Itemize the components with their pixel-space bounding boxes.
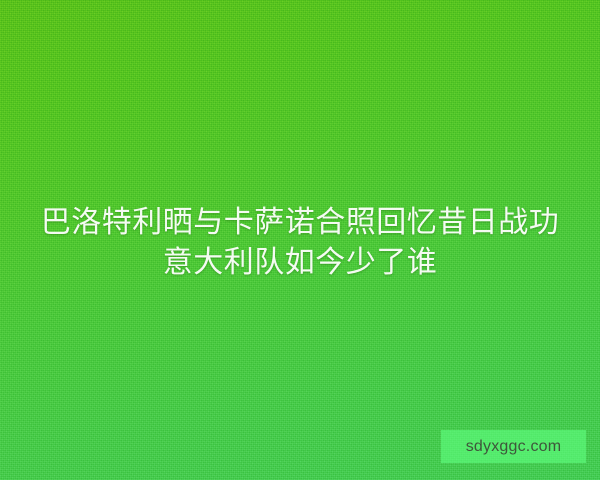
article-banner: 巴洛特利晒与卡萨诺合照回忆昔日战功意大利队如今少了谁 sdyxggc.com	[0, 0, 600, 480]
watermark-label: sdyxggc.com	[466, 439, 562, 455]
headline-line-2: 大利队如今少了谁	[193, 246, 437, 279]
watermark-badge: sdyxggc.com	[441, 430, 586, 463]
banner-headline: 巴洛特利晒与卡萨诺合照回忆昔日战功意大利队如今少了谁	[0, 203, 600, 283]
